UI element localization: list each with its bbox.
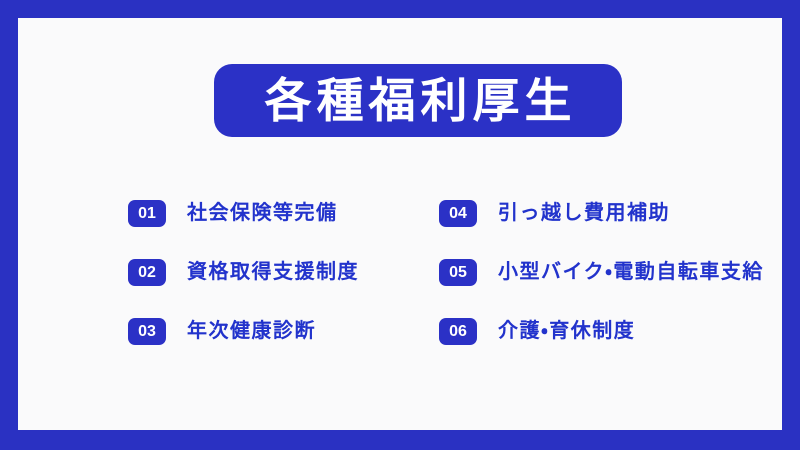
benefit-number-badge: 05 bbox=[439, 259, 477, 286]
list-item[interactable]: 06 介護・育休制度 bbox=[439, 318, 764, 377]
benefit-label: 小型バイク・電動自転車支給 bbox=[498, 259, 764, 286]
benefit-number-badge: 06 bbox=[439, 318, 477, 345]
list-item[interactable]: 03 年次健康診断 bbox=[128, 318, 359, 377]
benefit-label: 介護・育休制度 bbox=[498, 318, 635, 345]
list-item[interactable]: 02 資格取得支援制度 bbox=[128, 259, 359, 318]
benefit-number-badge: 02 bbox=[128, 259, 166, 286]
benefit-label: 年次健康診断 bbox=[187, 318, 316, 345]
title-badge: 各種福利厚生 bbox=[214, 64, 622, 137]
list-item[interactable]: 04 引っ越し費用補助 bbox=[439, 200, 764, 259]
slide-root: 各種福利厚生 01 社会保険等完備 02 資格取得支援制度 03 年次健康診断 bbox=[0, 0, 800, 450]
list-item[interactable]: 01 社会保険等完備 bbox=[128, 200, 359, 259]
benefit-number-badge: 01 bbox=[128, 200, 166, 227]
slide-panel: 各種福利厚生 01 社会保険等完備 02 資格取得支援制度 03 年次健康診断 bbox=[18, 18, 782, 430]
list-item[interactable]: 05 小型バイク・電動自転車支給 bbox=[439, 259, 764, 318]
benefit-label: 資格取得支援制度 bbox=[187, 259, 359, 286]
page-title: 各種福利厚生 bbox=[260, 77, 577, 124]
benefits-column-left: 01 社会保険等完備 02 資格取得支援制度 03 年次健康診断 bbox=[128, 200, 359, 377]
benefits-column-right: 04 引っ越し費用補助 05 小型バイク・電動自転車支給 06 介護・育休制度 bbox=[439, 200, 764, 377]
benefit-label: 社会保険等完備 bbox=[187, 200, 338, 227]
benefit-number-badge: 03 bbox=[128, 318, 166, 345]
benefit-number-badge: 04 bbox=[439, 200, 477, 227]
benefit-label: 引っ越し費用補助 bbox=[498, 200, 670, 227]
